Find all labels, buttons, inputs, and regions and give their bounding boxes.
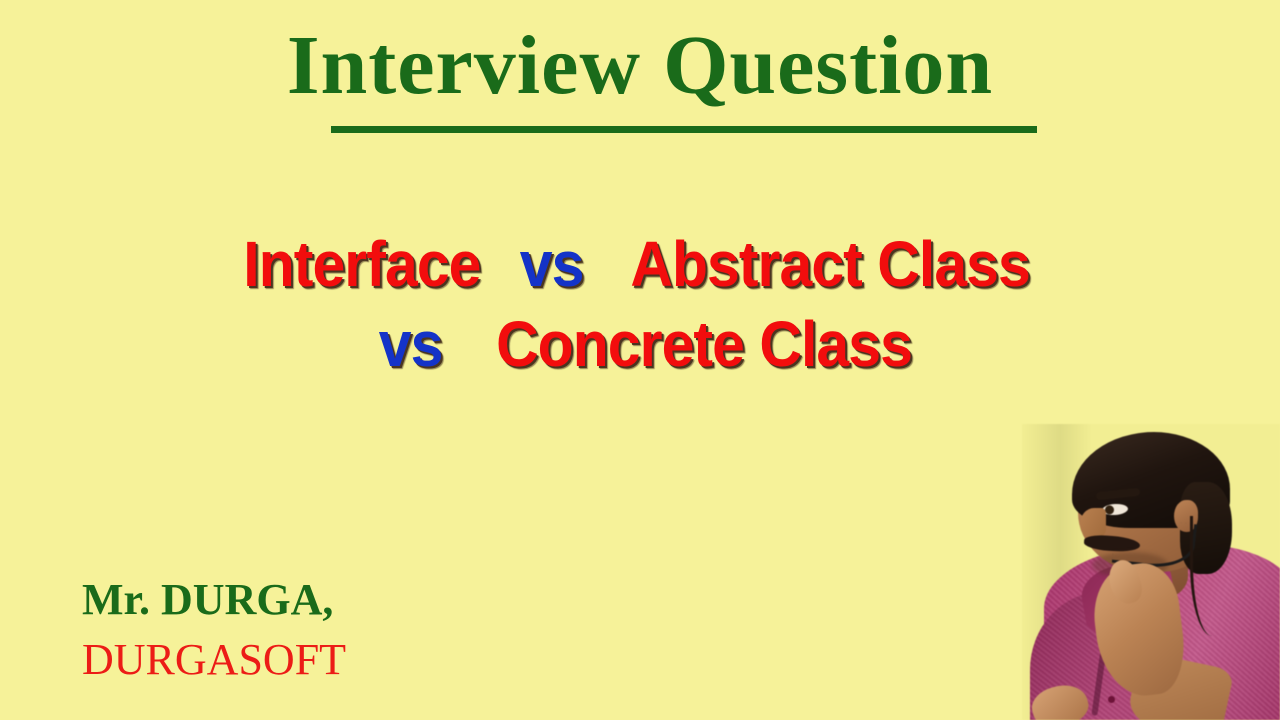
nose	[1080, 508, 1106, 538]
heading-term-abstract-class: Abstract Class	[631, 232, 1030, 296]
heading-line-2: vs Concrete Class	[0, 312, 1280, 376]
heading-term-interface: Interface	[243, 232, 480, 296]
presenter-name: Mr. DURGA,	[82, 576, 346, 624]
heading-block: Interface vs Abstract Class vs Concrete …	[0, 232, 1280, 376]
heading-term-concrete-class: Concrete Class	[496, 312, 912, 376]
company-name: DURGASOFT	[82, 636, 346, 684]
heading-separator-1: vs	[520, 232, 584, 296]
heading-line-1: Interface vs Abstract Class	[0, 232, 1280, 296]
presenter-photo	[1022, 424, 1280, 720]
shirt-button	[1108, 696, 1115, 703]
slide-canvas: Interview Question Interface vs Abstract…	[0, 0, 1280, 720]
title-underline	[331, 126, 1037, 133]
heading-separator-2: vs	[379, 312, 443, 376]
title-block: Interview Question	[0, 24, 1280, 108]
credit-block: Mr. DURGA, DURGASOFT	[82, 576, 346, 684]
page-title: Interview Question	[0, 24, 1280, 108]
